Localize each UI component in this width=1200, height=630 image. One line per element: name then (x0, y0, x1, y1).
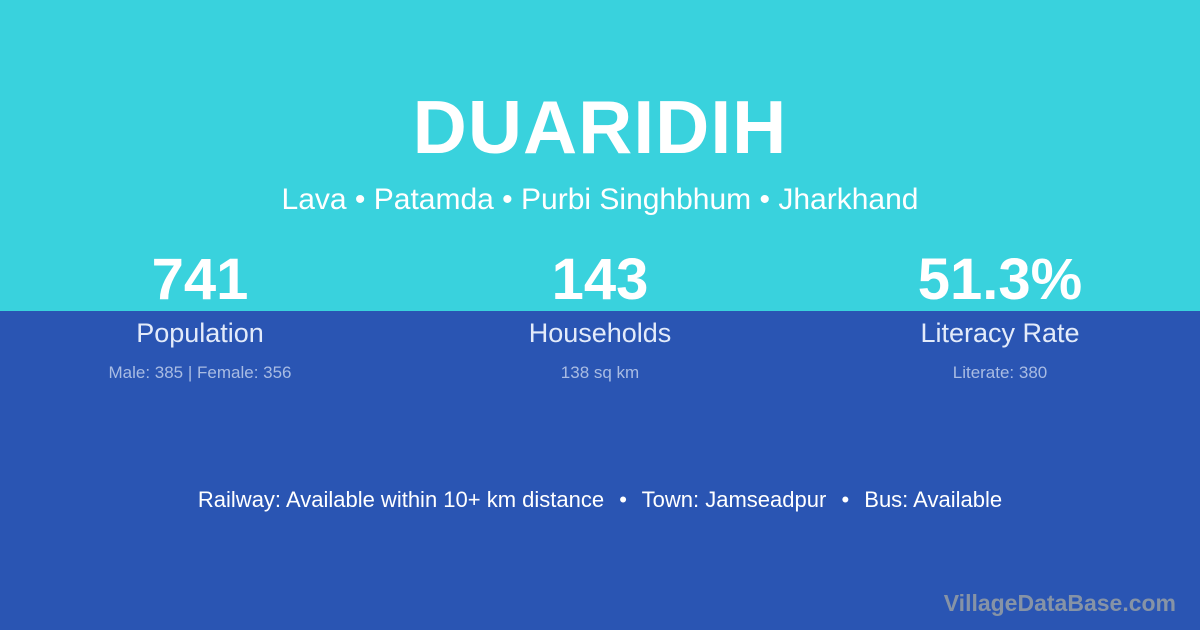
village-info-card: DUARIDIH Lava • Patamda • Purbi Singhbhu… (0, 0, 1200, 630)
stat-value: 741 (0, 248, 400, 312)
stat-sublabel: 138 sq km (400, 362, 800, 384)
stat-label: Population (0, 316, 400, 350)
bus-info: Bus: Available (864, 487, 1002, 512)
stat-population: 741 Population Male: 385 | Female: 356 (0, 248, 400, 384)
town-info: Town: Jamseadpur (642, 487, 827, 512)
card-content: DUARIDIH Lava • Patamda • Purbi Singhbhu… (0, 0, 1200, 630)
stat-sublabel: Male: 385 | Female: 356 (0, 362, 400, 384)
amenities-row: Railway: Available within 10+ km distanc… (0, 486, 1200, 514)
stat-label: Literacy Rate (800, 316, 1200, 350)
bullet-separator-icon: • (610, 486, 636, 514)
stat-label: Households (400, 316, 800, 350)
railway-info: Railway: Available within 10+ km distanc… (198, 487, 604, 512)
stat-value: 143 (400, 248, 800, 312)
stat-households: 143 Households 138 sq km (400, 248, 800, 384)
stat-sublabel: Literate: 380 (800, 362, 1200, 384)
stat-value: 51.3% (800, 248, 1200, 312)
bullet-separator-icon: • (832, 486, 858, 514)
site-brand-watermark: VillageDataBase.com (944, 588, 1176, 618)
breadcrumb: Lava • Patamda • Purbi Singhbhum • Jhark… (0, 181, 1200, 219)
page-title: DUARIDIH (0, 84, 1200, 170)
stat-literacy-rate: 51.3% Literacy Rate Literate: 380 (800, 248, 1200, 384)
stats-row: 741 Population Male: 385 | Female: 356 1… (0, 248, 1200, 384)
